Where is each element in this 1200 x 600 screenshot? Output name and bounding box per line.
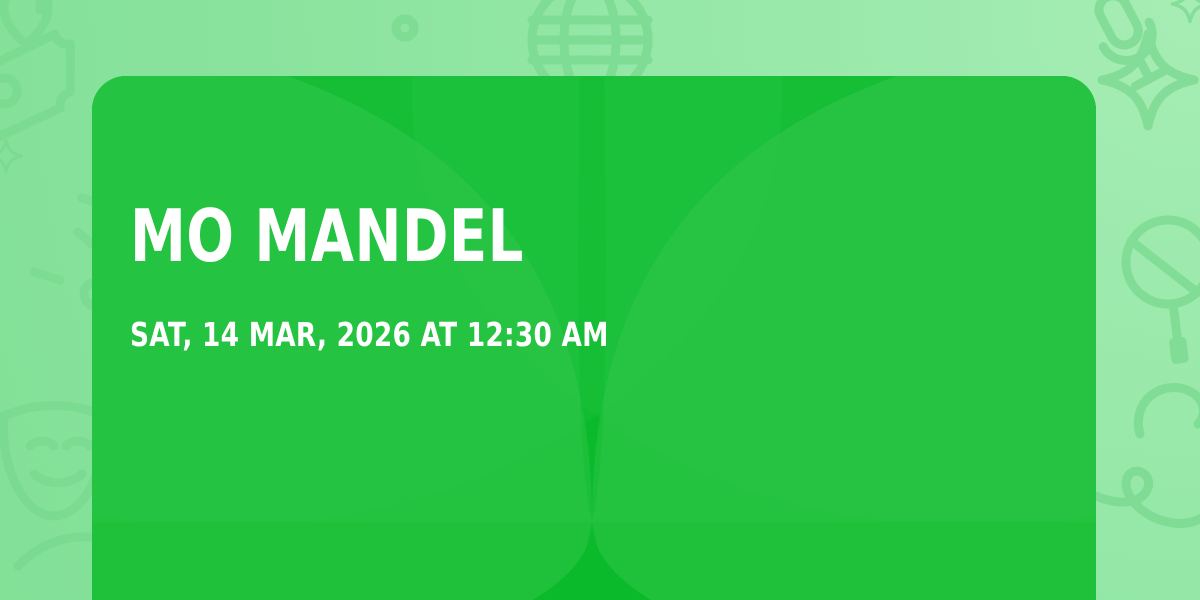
streamer-icon: [396, 19, 414, 37]
event-title: MO MANDEL: [130, 202, 597, 270]
card-text-block: MO MANDEL SAT, 14 MAR, 2026 AT 12:30 AM: [130, 202, 728, 351]
confetti-icon: [34, 198, 96, 280]
microphone-icon: [1091, 203, 1200, 363]
sparkle-icon: [0, 140, 22, 171]
petal-lower-left: [92, 522, 592, 600]
sparkle-icon: [1173, 0, 1200, 21]
event-share-card: MO MANDEL SAT, 14 MAR, 2026 AT 12:30 AM: [0, 0, 1200, 600]
streamer-icon: [1138, 388, 1200, 434]
event-datetime: SAT, 14 MAR, 2026 AT 12:30 AM: [130, 318, 609, 351]
petal-lower-right: [592, 522, 1096, 600]
microphone-icon: [1083, 0, 1172, 91]
ticket-icon: [0, 31, 87, 138]
event-card[interactable]: MO MANDEL SAT, 14 MAR, 2026 AT 12:30 AM: [92, 76, 1096, 600]
